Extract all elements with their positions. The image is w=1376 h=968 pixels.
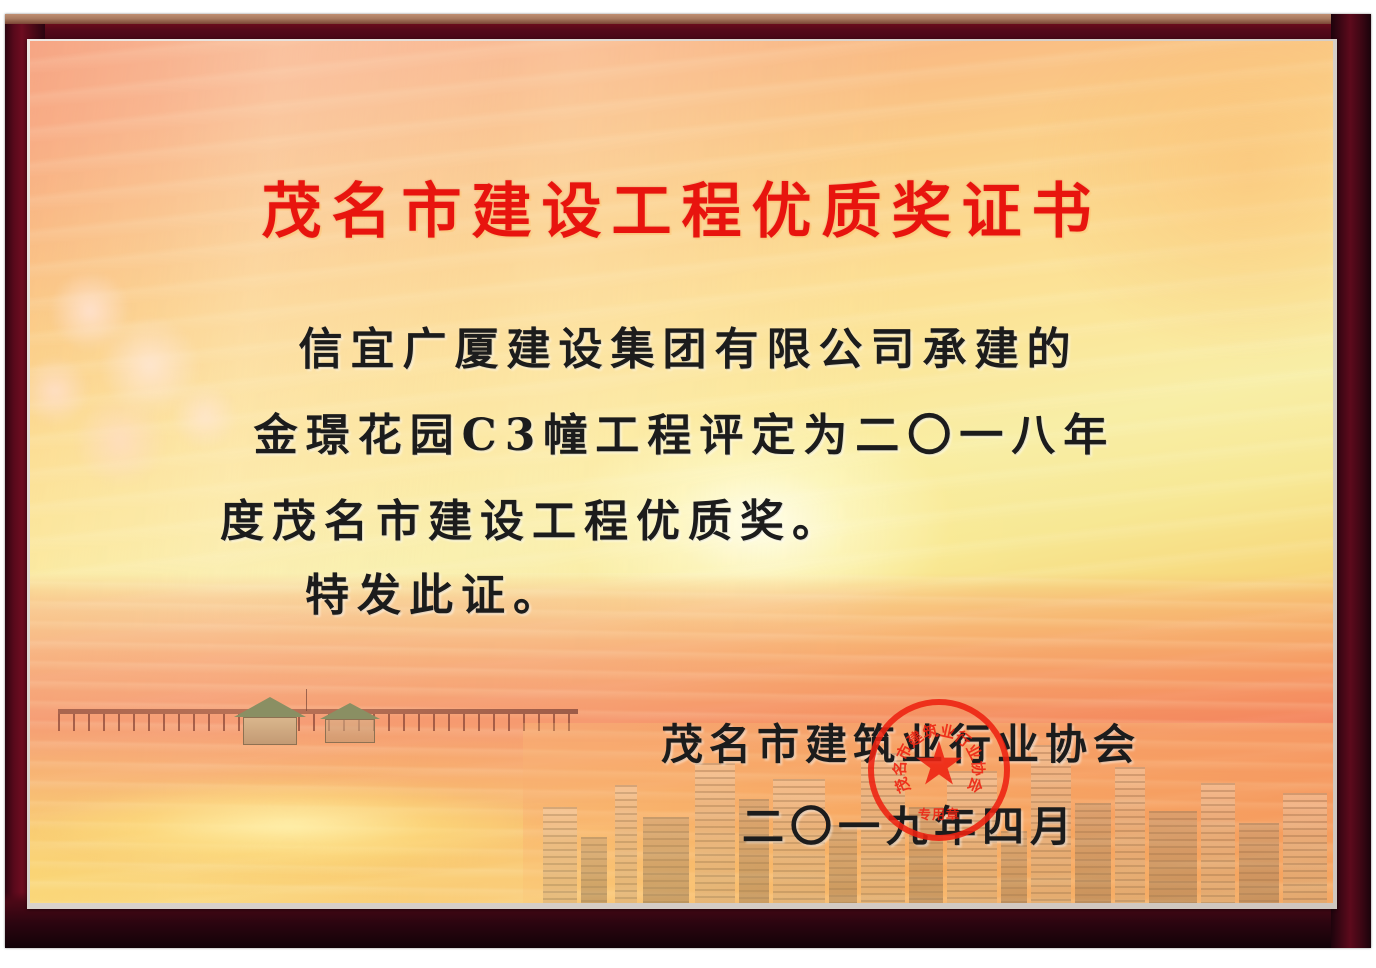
pier-pilings bbox=[58, 714, 578, 731]
seal-ring-char: 名 bbox=[889, 760, 911, 776]
seal-ring-char: 协 bbox=[968, 760, 990, 776]
pavilion-body-small bbox=[325, 719, 375, 743]
certificate-body-line-2: 金璟花园C3幢工程评定为二〇一八年 bbox=[30, 399, 1333, 463]
seal-bottom-text: 专用章 bbox=[874, 804, 1004, 823]
pavilion-body bbox=[243, 717, 297, 745]
seal-ring-char: 会 bbox=[963, 774, 988, 796]
certificate-title: 茂名市建设工程优质奖证书 bbox=[30, 163, 1333, 250]
pier-mast bbox=[306, 689, 307, 711]
certificate-body-line-4: 特发此证。 bbox=[305, 559, 565, 623]
frame-top-highlight-edge bbox=[5, 14, 1371, 24]
seal-ring-char: 茂 bbox=[890, 774, 915, 796]
certificate-body-line-3: 度茂名市建设工程优质奖。 bbox=[220, 485, 844, 549]
official-red-seal: 茂名市建筑业行业协会 专用章 bbox=[868, 699, 1010, 841]
certificate-body-line-1: 信宜广厦建设集团有限公司承建的 bbox=[30, 313, 1333, 377]
pavilion-roof bbox=[234, 697, 306, 717]
certificate-page: 茂名市建设工程优质奖证书 信宜广厦建设集团有限公司承建的 金璟花园C3幢工程评定… bbox=[0, 0, 1376, 968]
certificate-artwork: 茂名市建设工程优质奖证书 信宜广厦建设集团有限公司承建的 金璟花园C3幢工程评定… bbox=[30, 41, 1333, 903]
pavilion-building bbox=[234, 697, 306, 745]
pavilion-building-small bbox=[320, 703, 380, 743]
pavilion-roof-small bbox=[320, 703, 380, 719]
